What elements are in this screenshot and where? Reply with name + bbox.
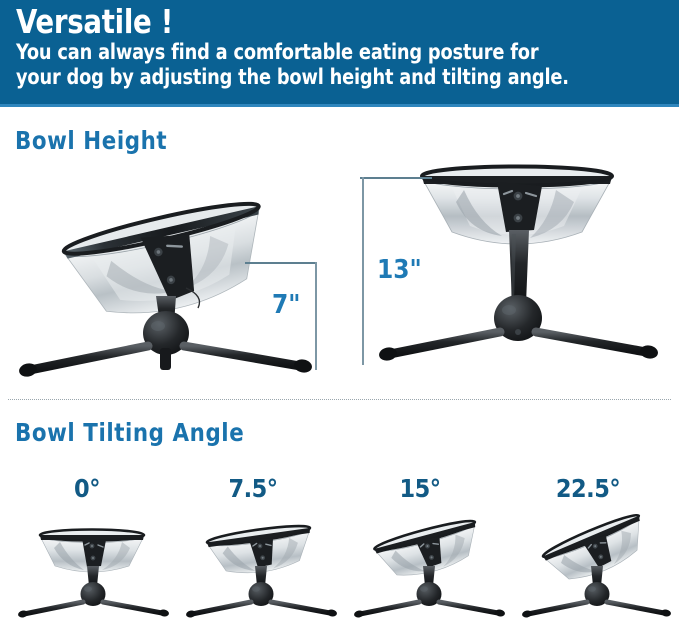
dimension-tick-13in (360, 177, 432, 179)
dimension-label-13in: 13" (377, 255, 422, 285)
bowl-stand-low-illustration (8, 188, 328, 373)
product-image-angle-0 (12, 518, 172, 622)
angle-label-0: 0° (74, 474, 100, 503)
product-image-angle-15 (348, 518, 508, 622)
banner-bottom-rule (0, 104, 679, 107)
infographic-page: Versatile ! You can always find a comfor… (0, 0, 679, 622)
banner-subtitle-line2: your dog by adjusting the bowl height an… (16, 65, 615, 90)
section-title-bowl-height: Bowl Height (15, 126, 167, 155)
product-image-angle-7-5 (180, 518, 340, 622)
section-divider (8, 399, 671, 400)
bowl-tilt-15-illustration (348, 518, 508, 622)
banner-title: Versatile ! (16, 4, 621, 40)
section-title-bowl-tilting-angle: Bowl Tilting Angle (15, 418, 244, 447)
header-banner: Versatile ! You can always find a comfor… (0, 0, 679, 107)
dimension-tick-7in (245, 262, 317, 264)
bowl-tilt-0-illustration (12, 518, 172, 622)
dimension-line-7in (315, 262, 317, 370)
angle-label-15: 15° (399, 474, 440, 503)
dimension-line-13in (362, 177, 364, 365)
banner-subtitle-line1: You can always find a comfortable eating… (16, 40, 615, 65)
angle-label-22-5: 22.5° (556, 474, 620, 503)
bowl-tilt-7-5-illustration (180, 518, 340, 622)
angle-label-7-5: 7.5° (228, 474, 277, 503)
dimension-label-7in: 7" (272, 290, 300, 320)
bowl-tilt-22-5-illustration (516, 516, 676, 622)
product-image-angle-22-5 (516, 516, 676, 622)
product-image-height-7in (8, 188, 328, 373)
